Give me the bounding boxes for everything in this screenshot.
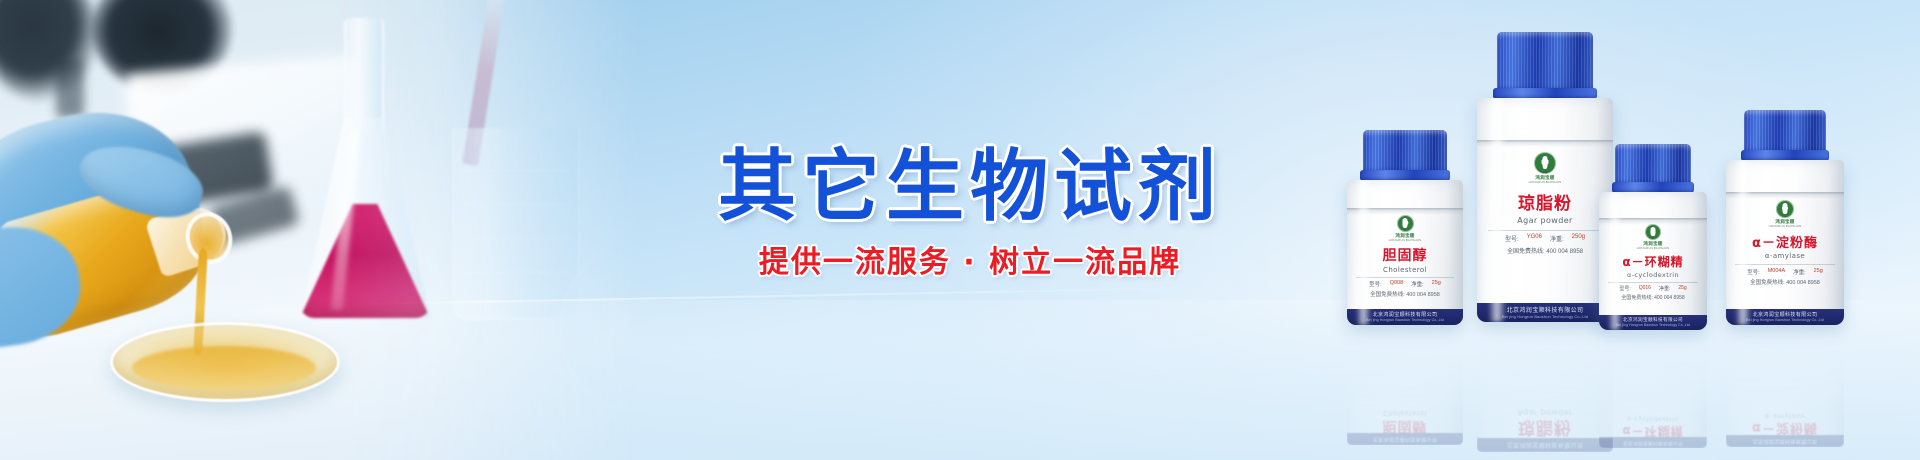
model-value: YG06 [1527, 234, 1542, 243]
hotline-key: 全国免费热线: [1621, 295, 1652, 301]
label-divider [1735, 264, 1834, 265]
hotline-key: 全国免费热线: [1507, 249, 1545, 255]
bottle-alpha-cyclodextrin[interactable]: 鸿润宝顺 HONGRUN BAOSHUN α－环糊精 α-cyclodextri… [1592, 144, 1714, 330]
label-footer-band: 北京鸿润宝顺科技有限公司 Bei jing Hongrun Baoshun Te… [1599, 315, 1707, 330]
reflection-alpha-cyclodextrin: α－环糊精 α-cyclodextrin 北京鸿润宝顺科技有限公司 [1599, 330, 1707, 448]
lab-scene-photo [0, 0, 640, 460]
hotline-row: 全国免费热线: 400 004 8958 [1599, 294, 1707, 301]
model-key: 型号: [1619, 285, 1630, 292]
company-logo-icon [1645, 224, 1661, 240]
company-name-en: Bei jing Hongrun Baoshun Technology Co.,… [1347, 318, 1463, 322]
logo-text-en: HONGRUN BAOSHUN [1726, 224, 1844, 228]
beaker-graduation [461, 170, 570, 171]
bottle-cap [1744, 110, 1826, 154]
logo-text-en: HONGRUN BAOSHUN [1347, 238, 1463, 242]
beaker-graduation [461, 272, 570, 273]
product-name-en: α-cyclodextrin [1599, 271, 1707, 279]
bottle-body: 鸿润宝顺 HONGRUN BAOSHUN α－环糊精 α-cyclodextri… [1599, 192, 1707, 330]
product-label: 鸿润宝顺 HONGRUN BAOSHUN α－淀粉酶 α-amylase 型号:… [1726, 200, 1844, 286]
hotline-value: 400 004 8958 [1654, 295, 1685, 301]
hotline-row: 全国免费热线: 400 004 8958 [1726, 278, 1844, 286]
cap-ridge-texture [1615, 144, 1691, 186]
spec-row: 型号: Q008 净重: 25g [1347, 280, 1463, 288]
company-name-cn: 北京鸿润宝顺科技有限公司 [1347, 311, 1463, 318]
product-name-cn: 胆固醇 [1347, 245, 1463, 265]
glass-beaker-icon [452, 128, 580, 320]
product-label: 鸿润宝顺 HONGRUN BAOSHUN 胆固醇 Cholesterol 型号:… [1347, 215, 1463, 298]
model-key: 型号: [1505, 234, 1519, 243]
label-divider [1356, 277, 1453, 278]
banner-headline: 其它生物试剂 [690, 148, 1250, 226]
weight-key: 净重: [1793, 268, 1806, 276]
weight-key: 净重: [1411, 280, 1424, 288]
company-name-en: Bei jing Hongrun Baoshun Technology Co.,… [1599, 323, 1707, 327]
bottle-cholesterol[interactable]: 鸿润宝顺 HONGRUN BAOSHUN 胆固醇 Cholesterol 型号:… [1340, 130, 1470, 325]
bottle-body: 鸿润宝顺 HONGRUN BAOSHUN 胆固醇 Cholesterol 型号:… [1347, 180, 1463, 325]
model-value: Q008 [1390, 280, 1403, 288]
weight-value: 25g [1678, 285, 1686, 292]
label-divider [1608, 282, 1699, 283]
banner-copy: 其它生物试剂 提供一流服务 · 树立一流品牌 [690, 148, 1250, 279]
company-logo-icon [1776, 200, 1794, 218]
banner-subheadline: 提供一流服务 · 树立一流品牌 [690, 246, 1250, 279]
weight-value: 25g [1814, 268, 1823, 276]
cap-ridge-texture [1497, 32, 1593, 92]
reflection-alpha-amylase: α－淀粉酶 α-amylase 北京鸿润宝顺科技有限公司 [1726, 325, 1844, 447]
hotline-key: 全国免费热线: [1750, 280, 1785, 286]
product-name-cn: α－环糊精 [1599, 253, 1707, 270]
model-value: M004A [1768, 268, 1785, 276]
company-logo-icon [1397, 215, 1414, 232]
hotline-value: 400 004 8958 [1786, 280, 1820, 286]
beaker-graduation [461, 204, 570, 205]
microscope-arm [56, 58, 84, 118]
bottle-cap [1615, 144, 1691, 186]
label-footer-band: 北京鸿润宝顺科技有限公司 Bei jing Hongrun Baoshun Te… [1347, 309, 1463, 325]
model-key: 型号: [1369, 280, 1382, 288]
weight-key: 净重: [1550, 234, 1564, 243]
reflection-cholesterol: 胆固醇 Cholesterol 北京鸿润宝顺科技有限公司 [1347, 325, 1463, 445]
erlenmeyer-flask-icon [300, 18, 430, 318]
company-name-en: Bei jing Hongrun Baoshun Technology Co.,… [1726, 318, 1844, 322]
spec-row: 型号: M004A 净重: 25g [1726, 268, 1844, 276]
label-divider [1488, 230, 1602, 231]
petri-dish-liquid [132, 346, 316, 390]
product-name-en: Cholesterol [1347, 266, 1463, 274]
product-name-cn: α－淀粉酶 [1726, 232, 1844, 251]
model-value: Q016 [1639, 285, 1651, 292]
hotline-value: 400 004 8958 [1406, 292, 1440, 298]
company-logo-icon [1534, 152, 1556, 174]
product-bottle-group: 鸿润宝顺 HONGRUN BAOSHUN 琼脂粉 Agar powder 型号:… [1330, 0, 1920, 460]
bottle-cap [1363, 130, 1447, 174]
model-key: 型号: [1747, 268, 1760, 276]
cap-ridge-texture [1744, 110, 1826, 154]
bottle-alpha-amylase[interactable]: 鸿润宝顺 HONGRUN BAOSHUN α－淀粉酶 α-amylase 型号:… [1720, 110, 1850, 325]
bottle-cap [1497, 32, 1593, 92]
spec-row: 型号: Q016 净重: 25g [1599, 285, 1707, 292]
product-name-en: α-amylase [1726, 252, 1844, 260]
weight-value: 250g [1572, 234, 1585, 243]
reflection-agar-powder: 琼脂粉 Agar powder 北京鸿润宝顺科技有限公司 [1477, 322, 1613, 452]
weight-value: 25g [1432, 280, 1441, 288]
hotline-row: 全国免费热线: 400 004 8958 [1347, 290, 1463, 298]
weight-key: 净重: [1659, 285, 1670, 292]
bottle-body: 鸿润宝顺 HONGRUN BAOSHUN α－淀粉酶 α-amylase 型号:… [1726, 160, 1844, 325]
company-name-cn: 北京鸿润宝顺科技有限公司 [1726, 311, 1844, 318]
product-category-banner: 其它生物试剂 提供一流服务 · 树立一流品牌 鸿润宝顺 HONGRUN BAOS… [0, 0, 1920, 460]
label-footer-band: 北京鸿润宝顺科技有限公司 Bei jing Hongrun Baoshun Te… [1726, 309, 1844, 325]
logo-text-en: HONGRUN BAOSHUN [1599, 246, 1707, 250]
hotline-value: 400 004 8958 [1546, 249, 1583, 255]
flask-neck [344, 18, 384, 130]
beaker-graduation [461, 238, 570, 239]
cap-ridge-texture [1363, 130, 1447, 174]
product-label: 鸿润宝顺 HONGRUN BAOSHUN α－环糊精 α-cyclodextri… [1599, 224, 1707, 301]
hotline-key: 全国免费热线: [1370, 292, 1405, 298]
